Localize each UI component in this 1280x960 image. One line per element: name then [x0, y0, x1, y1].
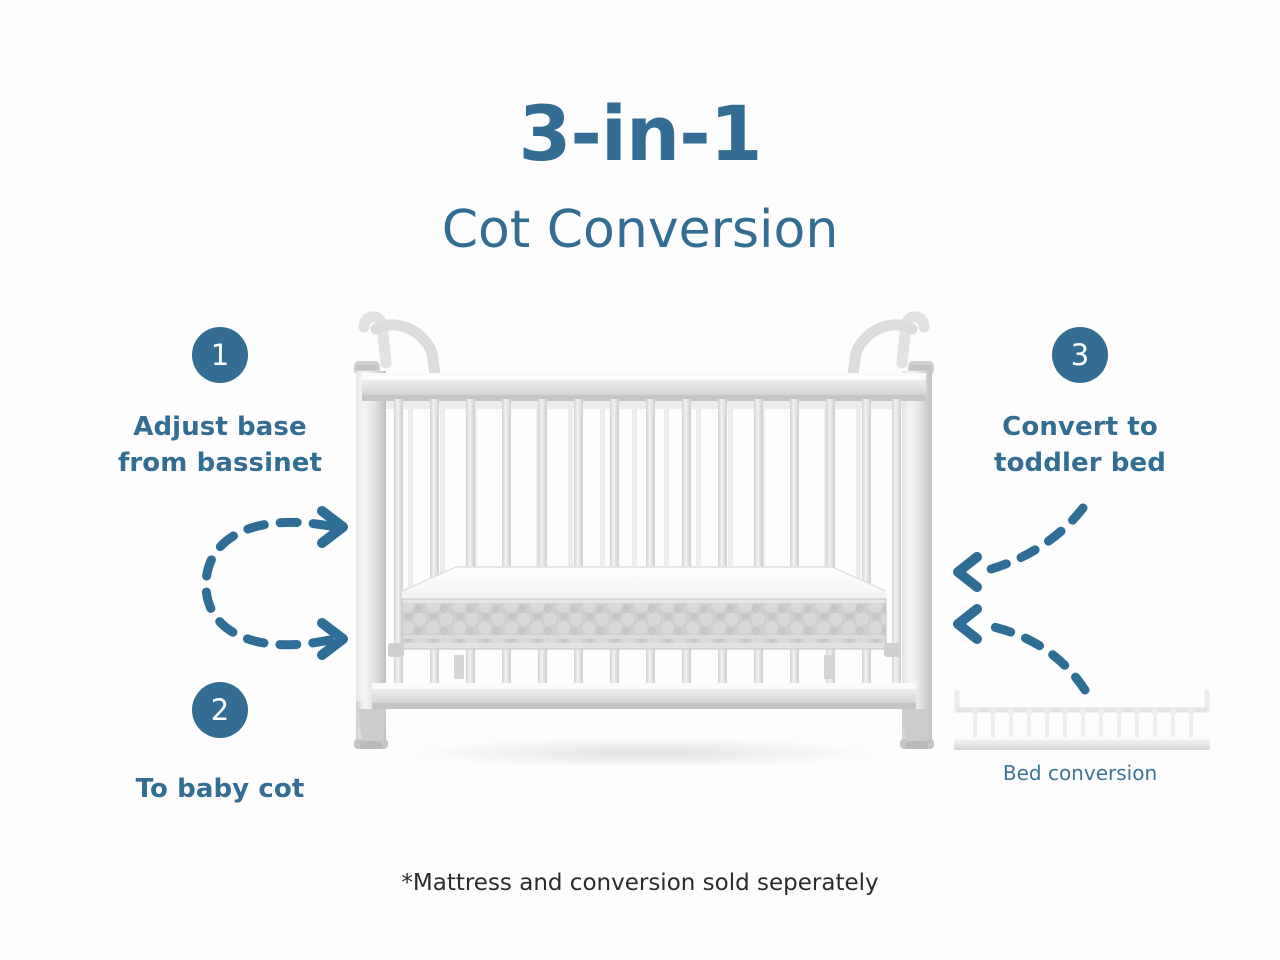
infographic-canvas: 3-in-1 Cot Conversion — [0, 0, 1280, 960]
step-caption-3-line1: Convert to — [960, 410, 1200, 446]
bed-conversion-label: Bed conversion — [960, 761, 1200, 785]
step-caption-1-line1: Adjust base — [80, 410, 360, 446]
step-caption-3: Convert to toddler bed — [960, 410, 1200, 482]
baby-cot-illustration — [336, 305, 952, 765]
dashed-arrow-right-lower — [958, 609, 1085, 690]
arrowhead-left-lower-right-side — [958, 609, 977, 639]
dashed-arrow-right-upper — [958, 508, 1083, 587]
step-badge-2: 2 — [192, 682, 248, 738]
step-caption-1-line2: from bassinet — [80, 446, 360, 482]
step-caption-2-line1: To baby cot — [100, 772, 340, 808]
crib-floor-shadow — [394, 736, 894, 765]
step-caption-1: Adjust base from bassinet — [80, 410, 360, 482]
step-badge-3: 3 — [1052, 327, 1108, 383]
bed-conversion-spindles — [972, 709, 1195, 738]
page-title: 3-in-1 — [0, 96, 1280, 172]
crib-bottom-rail — [372, 683, 916, 709]
footnote-disclaimer: *Mattress and conversion sold seperately — [0, 870, 1280, 896]
dashed-loop-arrow-left — [206, 511, 343, 655]
crib-top-rail — [362, 373, 926, 401]
page-subtitle: Cot Conversion — [0, 204, 1280, 256]
bed-conversion-illustration — [952, 686, 1212, 754]
step-badge-1: 1 — [192, 327, 248, 383]
step-caption-2: To baby cot — [100, 772, 340, 808]
arrowhead-left-upper-right-side — [958, 557, 977, 587]
crib-mattress — [402, 567, 886, 649]
step-caption-3-line2: toddler bed — [960, 446, 1200, 482]
